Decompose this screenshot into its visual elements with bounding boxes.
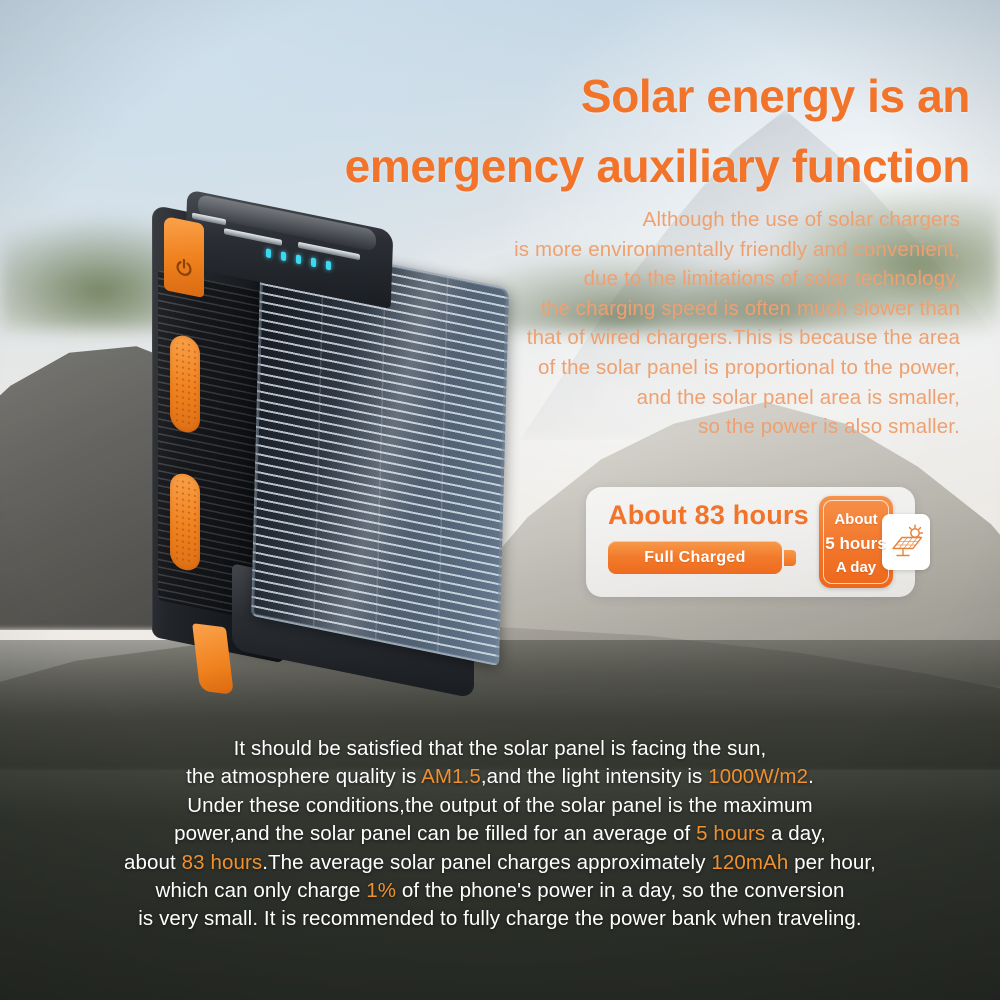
led-indicator [311, 257, 316, 267]
detail-line: is very small. It is recommended to full… [20, 905, 980, 933]
highlighted-value: 1% [366, 879, 396, 902]
intro-paragraph: Although the use of solar chargers is mo… [400, 205, 960, 442]
detail-paragraph: It should be satisfied that the solar pa… [20, 735, 980, 934]
intro-line: Although the use of solar chargers [400, 205, 960, 235]
intro-line: of the solar panel is proportional to th… [400, 353, 960, 383]
power-icon [173, 255, 195, 281]
detail-text: . [808, 765, 814, 788]
detail-line: It should be satisfied that the solar pa… [20, 735, 980, 763]
headline-line-1: Solar energy is an [581, 70, 970, 122]
power-bank-grip-pad [170, 333, 200, 435]
detail-line: Under these conditions,the output of the… [20, 792, 980, 820]
detail-line: which can only charge 1% of the phone's … [20, 877, 980, 905]
page-title: Solar energy is an emergency auxiliary f… [160, 61, 970, 201]
detail-line: the atmosphere quality is AM1.5,and the … [20, 763, 980, 791]
led-indicator [281, 251, 286, 261]
highlighted-value: 5 hours [696, 822, 765, 845]
hours-per-day-badge: About 5 hours A day [819, 496, 893, 588]
headline-line-2: emergency auxiliary function [160, 131, 970, 201]
highlighted-value: 83 hours [182, 851, 263, 874]
badge-line-2: 5 hours [819, 532, 893, 556]
led-indicator [266, 248, 271, 258]
detail-text: It should be satisfied that the solar pa… [234, 737, 767, 760]
full-charged-battery-indicator: Full Charged [608, 541, 782, 574]
detail-text: about [124, 851, 182, 874]
highlighted-value: AM1.5 [421, 765, 481, 788]
intro-line: is more environmentally friendly and con… [400, 235, 960, 265]
badge-line-3: A day [819, 556, 893, 580]
charge-time-card: About 83 hours Full Charged About 5 hour… [586, 487, 915, 597]
intro-line: and the solar panel area is smaller, [400, 383, 960, 413]
detail-text: the atmosphere quality is [186, 765, 421, 788]
detail-text: which can only charge [156, 879, 367, 902]
battery-label: Full Charged [644, 549, 745, 567]
badge-line-1: About [819, 508, 893, 532]
power-bank-grip-pad [170, 471, 200, 573]
detail-text: a day, [765, 822, 826, 845]
grip-pad-texture [174, 339, 196, 429]
detail-line: about 83 hours.The average solar panel c… [20, 849, 980, 877]
detail-text: .The average solar panel charges approxi… [262, 851, 711, 874]
detail-line: power,and the solar panel can be filled … [20, 820, 980, 848]
charge-hours-title: About 83 hours [608, 500, 809, 531]
highlighted-value: 1000W/m2 [708, 765, 808, 788]
battery-terminal-nub [784, 550, 796, 566]
detail-text: power,and the solar panel can be filled … [174, 822, 696, 845]
intro-line: that of wired chargers.This is because t… [400, 323, 960, 353]
detail-text: ,and the light intensity is [481, 765, 708, 788]
marketing-banner: Solar energy is an emergency auxiliary f… [0, 0, 1000, 1000]
detail-text: is very small. It is recommended to full… [138, 907, 861, 930]
led-indicator [326, 260, 331, 270]
intro-line: due to the limitations of solar technolo… [400, 264, 960, 294]
detail-text: of the phone's power in a day, so the co… [396, 879, 844, 902]
intro-line: so the power is also smaller. [400, 412, 960, 442]
intro-line: the charging speed is often much slower … [400, 294, 960, 324]
grip-pad-texture [174, 477, 196, 567]
detail-text: Under these conditions,the output of the… [187, 794, 812, 817]
highlighted-value: 120mAh [711, 851, 788, 874]
led-indicator [296, 254, 301, 264]
detail-text: per hour, [788, 851, 876, 874]
